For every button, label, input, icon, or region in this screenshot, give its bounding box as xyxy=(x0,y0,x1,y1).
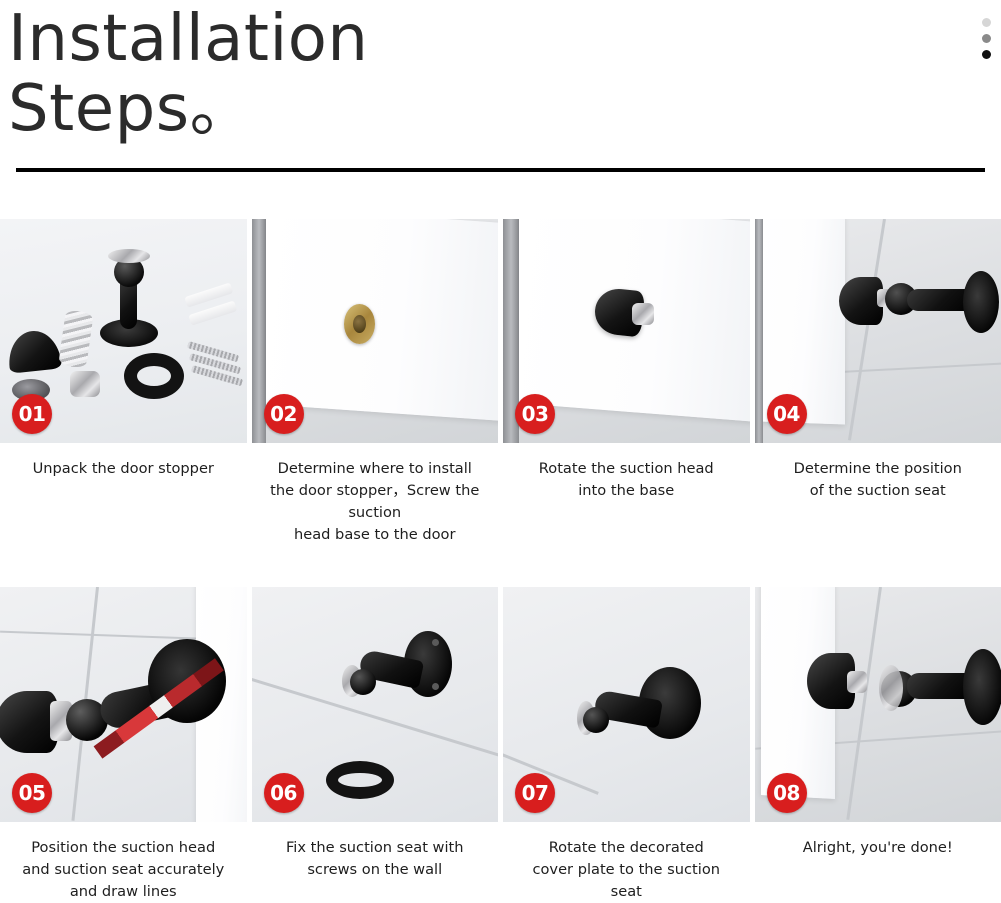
tile-grout-line xyxy=(252,675,499,760)
step-badge-07: 07 xyxy=(515,773,555,813)
step-cell-02[interactable]: 02 Determine where to install the door s… xyxy=(252,219,499,546)
part-spring-icon xyxy=(58,309,94,368)
seat-chrome-collar-icon xyxy=(879,665,903,711)
step-cell-03[interactable]: 03 Rotate the suction head into the base xyxy=(503,219,750,546)
part-cover-plate-ring-icon xyxy=(124,353,184,399)
door-panel xyxy=(266,219,499,422)
step-cell-06[interactable]: 06 Fix the suction seat with screws on t… xyxy=(252,587,499,903)
step-photo-04[interactable]: 04 xyxy=(755,219,1001,443)
step-caption-08: Alright, you're done! xyxy=(797,822,959,859)
step-badge-08: 08 xyxy=(767,773,807,813)
suction-head-cone-icon xyxy=(839,277,883,325)
step-badge-05: 05 xyxy=(12,773,52,813)
step-caption-06: Fix the suction seat with screws on the … xyxy=(280,822,470,881)
suction-seat-base-icon xyxy=(963,271,999,333)
step-photo-02[interactable]: 02 xyxy=(252,219,499,443)
step-badge-01: 01 xyxy=(12,394,52,434)
seat-stem-icon xyxy=(907,289,971,311)
pager-dot-3[interactable] xyxy=(982,50,991,59)
steps-grid-row-2: 05 Position the suction head and suction… xyxy=(0,587,1001,903)
suction-seat-base-icon xyxy=(963,649,1001,725)
part-chrome-collar-icon xyxy=(108,249,150,263)
step-photo-06[interactable]: 06 xyxy=(252,587,499,822)
floor-grout-line-1 xyxy=(847,219,885,440)
step-cell-05[interactable]: 05 Position the suction head and suction… xyxy=(0,587,247,903)
part-rubber-cap-icon xyxy=(6,328,62,373)
head-chrome-tip-icon xyxy=(847,671,867,693)
pager-dot-1[interactable] xyxy=(982,18,991,27)
page-title: Installation Steps。 xyxy=(8,0,993,144)
step-caption-07: Rotate the decorated cover plate to the … xyxy=(510,822,742,903)
seat-screw-icon-2 xyxy=(432,683,439,690)
seat-stem-icon xyxy=(907,673,971,699)
suction-head-chrome-tip-icon xyxy=(632,303,654,325)
step-badge-04: 04 xyxy=(767,394,807,434)
step-cell-07[interactable]: 07 Rotate the decorated cover plate to t… xyxy=(503,587,750,903)
title-divider xyxy=(16,168,985,172)
step-cell-08[interactable]: 08 Alright, you're done! xyxy=(755,587,1001,903)
seat-ball-icon xyxy=(583,707,609,733)
step-badge-03: 03 xyxy=(515,394,555,434)
cover-plate-ring-icon xyxy=(326,761,394,799)
door-panel xyxy=(759,219,845,425)
step-caption-01: Unpack the door stopper xyxy=(27,443,220,480)
part-chrome-nut-icon xyxy=(70,371,100,397)
step-photo-01[interactable]: 01 xyxy=(0,219,247,443)
step-badge-02: 02 xyxy=(264,394,304,434)
step-cell-04[interactable]: 04 Determine the position of the suction… xyxy=(755,219,1001,546)
step-photo-05[interactable]: 05 xyxy=(0,587,247,822)
step-caption-02: Determine where to install the door stop… xyxy=(259,443,491,546)
step-photo-03[interactable]: 03 xyxy=(503,219,750,443)
seat-ball-icon xyxy=(350,669,376,695)
step-badge-06: 06 xyxy=(264,773,304,813)
pager-dots[interactable] xyxy=(982,18,991,59)
page-header: Installation Steps。 xyxy=(0,0,1001,172)
step-photo-08[interactable]: 08 xyxy=(755,587,1001,822)
steps-grid-row-1: 01 Unpack the door stopper 02 Determine … xyxy=(0,219,1001,546)
step-cell-01[interactable]: 01 Unpack the door stopper xyxy=(0,219,247,546)
step-caption-03: Rotate the suction head into the base xyxy=(533,443,720,502)
door-edge xyxy=(755,219,763,443)
step-caption-04: Determine the position of the suction se… xyxy=(788,443,968,502)
step-caption-05: Position the suction head and suction se… xyxy=(16,822,230,903)
pager-dot-2[interactable] xyxy=(982,34,991,43)
seat-screw-icon-1 xyxy=(432,639,439,646)
base-screw-hole-icon xyxy=(353,315,366,333)
step-photo-07[interactable]: 07 xyxy=(503,587,750,822)
